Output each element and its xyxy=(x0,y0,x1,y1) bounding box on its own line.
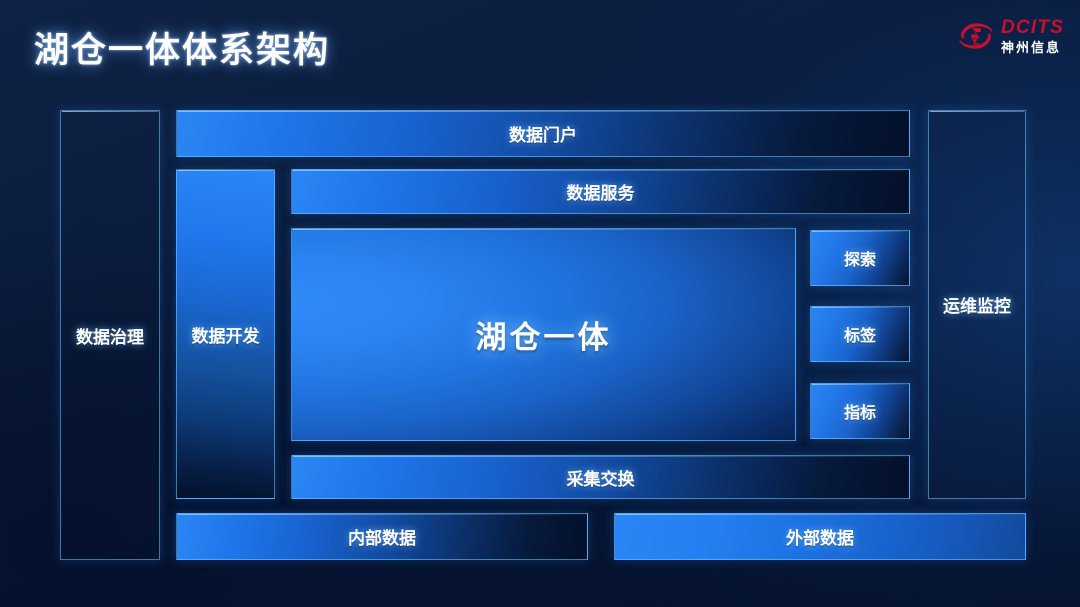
bar-external-data[interactable]: 外部数据 xyxy=(614,513,1026,560)
bar-internal-data-label: 内部数据 xyxy=(348,524,416,549)
chip-explore[interactable]: 探索 xyxy=(810,230,910,286)
pillar-ops-monitoring-label: 运维监控 xyxy=(943,292,1011,317)
hero-lakehouse-label: 湖仓一体 xyxy=(476,312,612,357)
hero-lakehouse[interactable]: 湖仓一体 xyxy=(291,228,796,441)
bar-data-service[interactable]: 数据服务 xyxy=(291,169,910,214)
bar-data-service-label: 数据服务 xyxy=(567,179,635,204)
brand-logo-text: DCITS 神州信息 xyxy=(1001,18,1064,54)
bar-data-portal[interactable]: 数据门户 xyxy=(176,110,910,157)
chip-tags[interactable]: 标签 xyxy=(810,306,910,362)
pillar-ops-monitoring[interactable]: 运维监控 xyxy=(928,110,1026,499)
chip-metrics-label: 指标 xyxy=(844,399,876,423)
brand-logo: DCITS 神州信息 xyxy=(957,18,1064,54)
bar-collect-exchange-label: 采集交换 xyxy=(567,465,635,490)
page-title: 湖仓一体体系架构 xyxy=(34,22,330,73)
pillar-data-governance[interactable]: 数据治理 xyxy=(60,110,160,560)
chip-tags-label: 标签 xyxy=(844,322,876,346)
pillar-data-governance-label: 数据治理 xyxy=(76,323,144,348)
bar-data-portal-label: 数据门户 xyxy=(509,121,577,146)
pillar-data-development-label: 数据开发 xyxy=(192,322,260,347)
chip-explore-label: 探索 xyxy=(844,246,876,270)
pillar-data-development[interactable]: 数据开发 xyxy=(176,169,275,499)
chip-metrics[interactable]: 指标 xyxy=(810,383,910,439)
slide-header: 湖仓一体体系架构 DCITS 神州信息 xyxy=(0,0,1080,92)
bar-collect-exchange[interactable]: 采集交换 xyxy=(291,455,910,499)
bar-internal-data[interactable]: 内部数据 xyxy=(176,513,588,560)
slide-canvas: 湖仓一体体系架构 DCITS 神州信息 数据治理 数据门户 数据开发 xyxy=(0,0,1080,607)
swirl-icon xyxy=(957,19,995,53)
bar-external-data-label: 外部数据 xyxy=(786,524,854,549)
brand-name-cn: 神州信息 xyxy=(1001,41,1064,54)
brand-name-en: DCITS xyxy=(1001,18,1064,37)
